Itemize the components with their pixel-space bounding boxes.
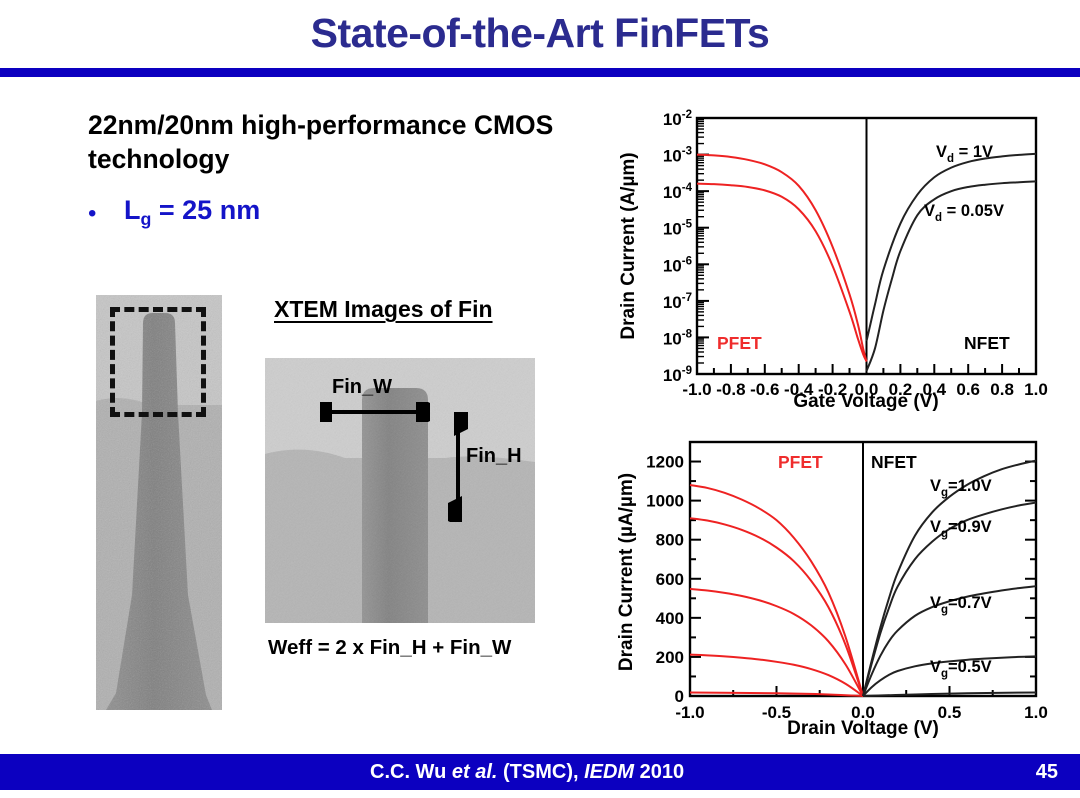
x-tick-label: -1.0 xyxy=(682,380,711,399)
citation-affil: (TSMC), xyxy=(497,761,584,783)
pfet-label-bot: PFET xyxy=(778,452,823,472)
x-tick-label: 0.6 xyxy=(956,380,980,399)
x-tick-label: -0.8 xyxy=(716,380,745,399)
weff-caption: Weff = 2 x Fin_H + Fin_W xyxy=(268,636,511,660)
y-tick-label: 200 xyxy=(656,648,684,667)
lg-subscript: g xyxy=(141,209,152,229)
lg-symbol: L xyxy=(124,195,141,225)
x-tick-label: 1.0 xyxy=(1024,380,1048,399)
y-axis-title-bot: Drain Current (µA/µm) xyxy=(616,473,637,671)
tem-right-graphic xyxy=(265,358,535,623)
fin-w-arrow-icon xyxy=(320,402,430,422)
lead-paragraph: 22nm/20nm high-performance CMOS technolo… xyxy=(88,108,608,177)
svg-text:10-6: 10-6 xyxy=(663,255,692,275)
bullet-marker-icon: • xyxy=(88,202,124,226)
svg-text:10-4: 10-4 xyxy=(663,182,693,202)
page-title: State-of-the-Art FinFETs xyxy=(0,2,1080,64)
chart-transfer-curves: 10-2 10-3 10-4 10-5 10-6 10-7 10-8 10-9 xyxy=(612,96,1052,414)
y-tick-label: 1200 xyxy=(646,453,684,472)
x-tick-label: -0.6 xyxy=(750,380,779,399)
svg-text:10-8: 10-8 xyxy=(663,328,693,348)
x-axis-title-bot: Drain Voltage (V) xyxy=(787,718,939,739)
svg-text:10-3: 10-3 xyxy=(663,146,692,166)
y-axis-title-top: Drain Current (A/µm) xyxy=(618,152,639,339)
chart-output-curves: 020040060080010001200 -1.0-0.50.00.51.0 xyxy=(612,424,1052,744)
y-tick-label: 800 xyxy=(656,531,684,550)
footer-citation: C.C. Wu et al. (TSMC), IEDM 2010 xyxy=(370,761,684,784)
roi-dashed-box xyxy=(110,307,206,417)
citation-venue: IEDM xyxy=(584,761,634,783)
tem-image-full-fin xyxy=(96,295,222,710)
x-tick-label: 1.0 xyxy=(1024,703,1048,722)
fin-h-arrow-icon xyxy=(448,412,468,522)
fin-h-label: Fin_H xyxy=(466,445,522,468)
svg-text:10-7: 10-7 xyxy=(663,292,692,312)
title-divider xyxy=(0,68,1080,77)
tem-image-fin-closeup xyxy=(265,358,535,623)
y-tick-label: 400 xyxy=(656,609,684,628)
bullet-item-label: Lg = 25 nm xyxy=(124,196,260,229)
lg-value: = 25 nm xyxy=(151,195,260,225)
bullet-item-lg: • Lg = 25 nm xyxy=(88,196,488,229)
nfet-label-bot: NFET xyxy=(871,452,917,472)
x-tick-label: 0.5 xyxy=(938,703,962,722)
citation-etal: et al. xyxy=(452,761,498,783)
x-tick-label: -1.0 xyxy=(675,703,704,722)
fin-w-label: Fin_W xyxy=(332,376,392,399)
page-number: 45 xyxy=(1036,761,1058,784)
xtem-heading: XTEM Images of Fin xyxy=(274,296,493,323)
nfet-label-top: NFET xyxy=(964,333,1010,353)
x-axis-title-top: Gate Voltage (V) xyxy=(793,391,938,412)
svg-text:10-2: 10-2 xyxy=(663,109,692,129)
citation-author: C.C. Wu xyxy=(370,761,452,783)
svg-text:10-5: 10-5 xyxy=(663,219,693,239)
slide-root: State-of-the-Art FinFETs 22nm/20nm high-… xyxy=(0,0,1080,798)
pfet-label-top: PFET xyxy=(717,333,762,353)
x-tick-label: 0.8 xyxy=(990,380,1014,399)
y-tick-label: 1000 xyxy=(646,492,684,511)
citation-year: 2010 xyxy=(634,761,684,783)
y-tick-label: 600 xyxy=(656,570,684,589)
